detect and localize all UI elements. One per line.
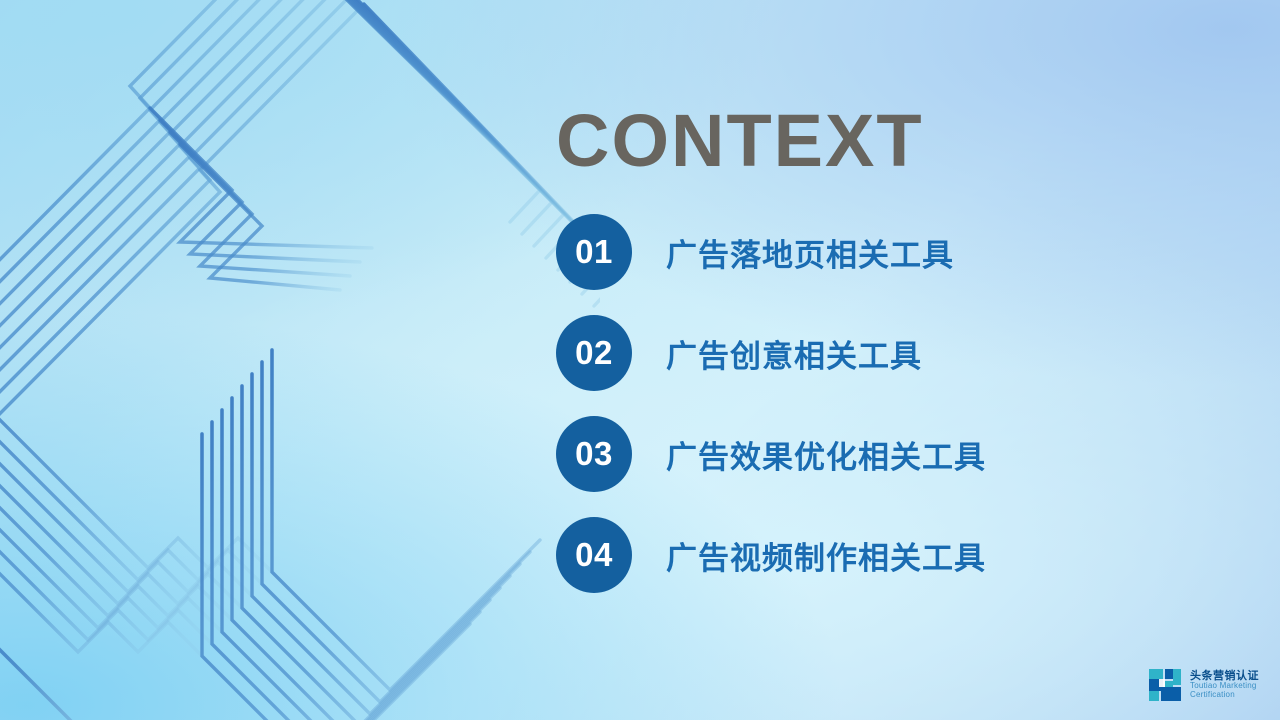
brand-logo: 头条营销认证 Toutiao Marketing Certification <box>1148 668 1259 702</box>
agenda-number-badge: 01 <box>556 214 632 290</box>
agenda-item-label: 广告视频制作相关工具 <box>666 533 986 578</box>
agenda-list: 01 广告落地页相关工具 02 广告创意相关工具 03 广告效果优化相关工具 0… <box>556 214 1216 618</box>
slide-canvas: CONTEXT 01 广告落地页相关工具 02 广告创意相关工具 03 广告效果… <box>0 0 1280 720</box>
agenda-number-badge: 04 <box>556 517 632 593</box>
chevron-monogram-decoration <box>0 0 600 720</box>
agenda-item-label: 广告效果优化相关工具 <box>666 432 986 477</box>
agenda-item-04[interactable]: 04 广告视频制作相关工具 <box>556 517 1216 593</box>
agenda-item-01[interactable]: 01 广告落地页相关工具 <box>556 214 1216 290</box>
agenda-item-label: 广告创意相关工具 <box>666 331 922 376</box>
logo-name-en-line2: Certification <box>1190 691 1259 700</box>
toutiao-logo-icon <box>1148 668 1182 702</box>
agenda-number-badge: 03 <box>556 416 632 492</box>
logo-text-block: 头条营销认证 Toutiao Marketing Certification <box>1190 670 1259 700</box>
agenda-item-02[interactable]: 02 广告创意相关工具 <box>556 315 1216 391</box>
agenda-item-03[interactable]: 03 广告效果优化相关工具 <box>556 416 1216 492</box>
page-title: CONTEXT <box>556 104 924 178</box>
agenda-number-badge: 02 <box>556 315 632 391</box>
agenda-item-label: 广告落地页相关工具 <box>666 230 954 275</box>
